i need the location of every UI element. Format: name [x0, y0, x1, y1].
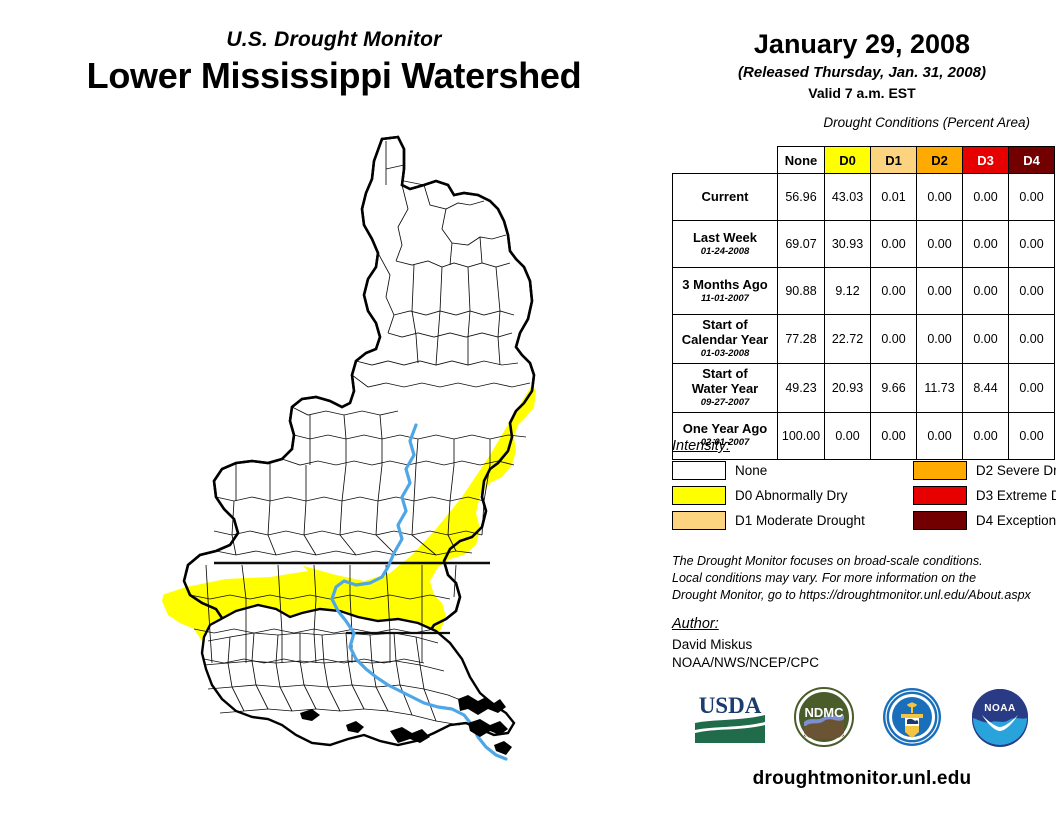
row-label-date: 11-01-2007 [675, 294, 775, 305]
cell-current-d1: 0.01 [871, 174, 917, 221]
legend-label-d2: D2 Severe Drought [976, 463, 1056, 478]
row-label-line2: Water Year [692, 381, 759, 396]
cell-wateryear-none: 49.23 [778, 363, 825, 412]
swatch-d4-icon [913, 511, 967, 530]
swatch-d1-icon [672, 511, 726, 530]
legend-label-d1: D1 Moderate Drought [735, 513, 865, 528]
legend-item-d4: D4 Exceptional Drought [913, 511, 1056, 530]
table-row: Start of Calendar Year 01-03-2008 77.28 … [673, 315, 1055, 364]
cell-calyear-d0: 22.72 [825, 315, 871, 364]
cell-3months-d1: 0.00 [871, 268, 917, 315]
intensity-legend: Intensity: None D0 Abnormally Dry D1 Mod… [672, 438, 1056, 530]
cell-lastweek-none: 69.07 [778, 221, 825, 268]
map-svg [150, 125, 550, 795]
cell-wateryear-d2: 11.73 [917, 363, 963, 412]
cell-calyear-d3: 0.00 [963, 315, 1009, 364]
author-affiliation: NOAA/NWS/NCEP/CPC [672, 654, 1056, 672]
legend-item-d0: D0 Abnormally Dry [672, 486, 865, 505]
row-label-start-calendar-year: Start of Calendar Year 01-03-2008 [673, 315, 778, 364]
legend-item-none: None [672, 461, 865, 480]
row-label-text: Current [702, 189, 749, 204]
cell-current-d2: 0.00 [917, 174, 963, 221]
disclaimer-line-2: Local conditions may vary. For more info… [672, 570, 1056, 587]
legend-grid: None D0 Abnormally Dry D1 Moderate Droug… [672, 461, 1056, 530]
table-row: Start of Water Year 09-27-2007 49.23 20.… [673, 363, 1055, 412]
cell-3months-d3: 0.00 [963, 268, 1009, 315]
column-header-d1: D1 [871, 147, 917, 174]
column-header-d4: D4 [1009, 147, 1055, 174]
cell-3months-none: 90.88 [778, 268, 825, 315]
drought-conditions-table: None D0 D1 D2 D3 D4 Current 56.96 43.03 … [672, 146, 1055, 460]
row-label-line1: Start of [702, 366, 748, 381]
legend-item-d1: D1 Moderate Drought [672, 511, 865, 530]
cell-calyear-d2: 0.00 [917, 315, 963, 364]
report-date: January 29, 2008 [668, 30, 1056, 60]
cell-lastweek-d3: 0.00 [963, 221, 1009, 268]
table-row: 3 Months Ago 11-01-2007 90.88 9.12 0.00 … [673, 268, 1055, 315]
map-title-block: U.S. Drought Monitor Lower Mississippi W… [0, 28, 668, 96]
table-header-row: None D0 D1 D2 D3 D4 [673, 147, 1055, 174]
page-title: Lower Mississippi Watershed [0, 55, 668, 96]
cell-wateryear-d1: 9.66 [871, 363, 917, 412]
row-label-date: 01-03-2008 [675, 349, 775, 360]
valid-time: Valid 7 a.m. EST [668, 85, 1056, 101]
legend-label-d4: D4 Exceptional Drought [976, 513, 1056, 528]
site-url[interactable]: droughtmonitor.unl.edu [668, 768, 1056, 790]
date-block: January 29, 2008 (Released Thursday, Jan… [668, 0, 1056, 101]
table-row: Last Week 01-24-2008 69.07 30.93 0.00 0.… [673, 221, 1055, 268]
disclaimer-line-3: Drought Monitor, go to https://droughtmo… [672, 587, 1056, 604]
cell-lastweek-d1: 0.00 [871, 221, 917, 268]
release-date: (Released Thursday, Jan. 31, 2008) [668, 64, 1056, 81]
row-label-line1: Start of [702, 317, 748, 332]
noaa-logo-text: NOAA [984, 703, 1015, 714]
table-row: Current 56.96 43.03 0.01 0.00 0.00 0.00 [673, 174, 1055, 221]
commerce-logo [881, 686, 943, 748]
row-label-date: 01-24-2008 [675, 247, 775, 258]
table-corner-cell [673, 147, 778, 174]
cell-calyear-none: 77.28 [778, 315, 825, 364]
cell-current-d4: 0.00 [1009, 174, 1055, 221]
legend-column-left: None D0 Abnormally Dry D1 Moderate Droug… [672, 461, 865, 530]
cell-wateryear-d0: 20.93 [825, 363, 871, 412]
cell-current-none: 56.96 [778, 174, 825, 221]
intensity-legend-title: Intensity: [672, 438, 1056, 454]
ndmc-logo: NDMC [793, 686, 855, 748]
cell-lastweek-d0: 30.93 [825, 221, 871, 268]
usda-logo-text: USDA [699, 693, 762, 718]
cell-calyear-d4: 0.00 [1009, 315, 1055, 364]
author-title: Author: [672, 616, 1056, 632]
swatch-d2-icon [913, 461, 967, 480]
cell-current-d3: 0.00 [963, 174, 1009, 221]
drought-map[interactable] [150, 125, 550, 795]
legend-item-d3: D3 Extreme Drought [913, 486, 1056, 505]
cell-lastweek-d2: 0.00 [917, 221, 963, 268]
cell-3months-d4: 0.00 [1009, 268, 1055, 315]
row-label-line2: Calendar Year [682, 332, 768, 347]
row-label-text: 3 Months Ago [682, 277, 767, 292]
row-label-start-water-year: Start of Water Year 09-27-2007 [673, 363, 778, 412]
noaa-logo: NOAA [969, 686, 1031, 748]
swatch-d0-icon [672, 486, 726, 505]
cell-3months-d0: 9.12 [825, 268, 871, 315]
column-header-d3: D3 [963, 147, 1009, 174]
dm-supertitle: U.S. Drought Monitor [0, 28, 668, 51]
legend-label-none: None [735, 463, 767, 478]
swatch-d3-icon [913, 486, 967, 505]
info-panel: January 29, 2008 (Released Thursday, Jan… [668, 0, 1056, 816]
cell-calyear-d1: 0.00 [871, 315, 917, 364]
column-header-d2: D2 [917, 147, 963, 174]
swatch-none-icon [672, 461, 726, 480]
cell-wateryear-d3: 8.44 [963, 363, 1009, 412]
row-label-3-months-ago: 3 Months Ago 11-01-2007 [673, 268, 778, 315]
disclaimer-text: The Drought Monitor focuses on broad-sca… [672, 553, 1056, 604]
row-label-last-week: Last Week 01-24-2008 [673, 221, 778, 268]
row-label-text: One Year Ago [683, 421, 768, 436]
author-name: David Miskus [672, 636, 1056, 654]
cell-current-d0: 43.03 [825, 174, 871, 221]
legend-item-d2: D2 Severe Drought [913, 461, 1056, 480]
logo-row: USDA NDMC [668, 686, 1056, 748]
drought-monitor-page: U.S. Drought Monitor Lower Mississippi W… [0, 0, 1056, 816]
legend-column-right: D2 Severe Drought D3 Extreme Drought D4 … [913, 461, 1056, 530]
ndmc-logo-text: NDMC [805, 705, 845, 720]
cell-lastweek-d4: 0.00 [1009, 221, 1055, 268]
table-caption: Drought Conditions (Percent Area) [668, 115, 1056, 130]
usda-logo: USDA [693, 689, 767, 745]
cell-3months-d2: 0.00 [917, 268, 963, 315]
column-header-d0: D0 [825, 147, 871, 174]
legend-label-d3: D3 Extreme Drought [976, 488, 1056, 503]
author-block: Author: David Miskus NOAA/NWS/NCEP/CPC [672, 616, 1056, 672]
legend-label-d0: D0 Abnormally Dry [735, 488, 848, 503]
cell-wateryear-d4: 0.00 [1009, 363, 1055, 412]
row-label-date: 09-27-2007 [675, 398, 775, 409]
row-label-current: Current [673, 174, 778, 221]
column-header-none: None [778, 147, 825, 174]
row-label-text: Last Week [693, 230, 757, 245]
disclaimer-line-1: The Drought Monitor focuses on broad-sca… [672, 553, 1056, 570]
